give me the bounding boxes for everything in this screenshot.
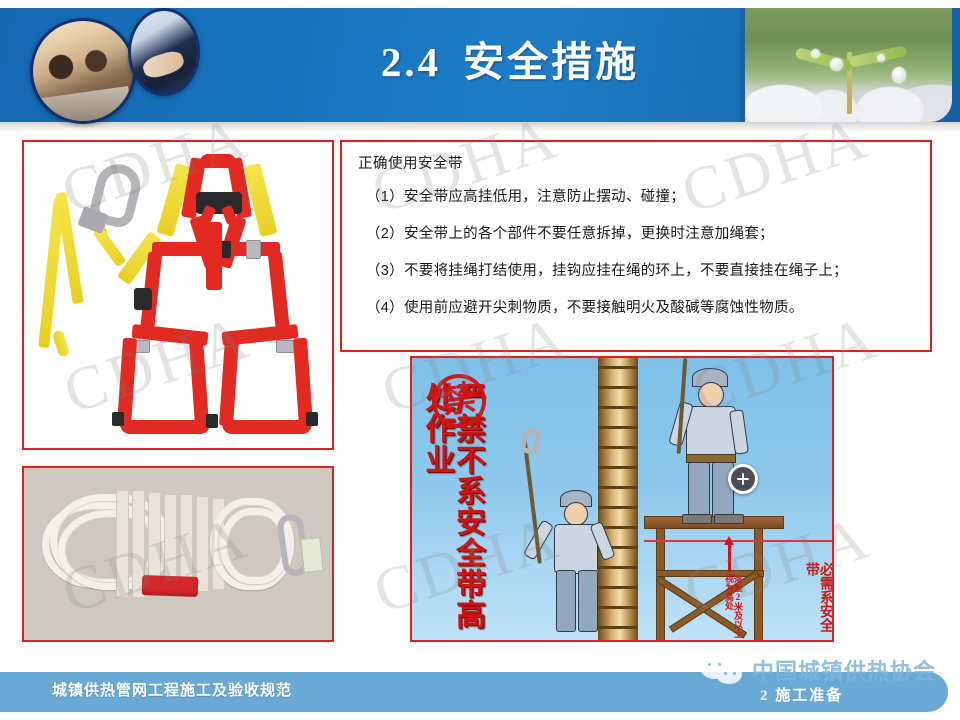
instruction-item-3: （3）不要将挂绳打结使用，挂钩应挂在绳的环上，不要直接挂在绳子上； — [366, 259, 918, 280]
instruction-item-1: （1）安全带应高挂低用，注意防止摆动、碰撞； — [366, 185, 918, 206]
title-number: 2.4 — [381, 42, 441, 83]
safety-poster-image: 落差2米及以上视为高处 必需系安全带 严禁不系安全带高处作业 禁 — [410, 356, 834, 642]
instruction-item-2: （2）安全带上的各个部件不要任意拆掉，更换时注意加绳套； — [366, 222, 918, 243]
height-arrow — [728, 544, 731, 572]
sprout-dew-photo — [740, 8, 952, 122]
scaffold-frame — [650, 518, 778, 642]
instruction-item-4: （4）使用前应避开尖刺物质，不要接触明火及酸碱等腐蚀性物质。 — [366, 296, 918, 317]
ladder — [598, 356, 638, 642]
wechat-watermark: 中国城镇供热协会 — [700, 654, 936, 686]
slide: 2.4 安全措施 — [0, 0, 960, 720]
wechat-account-name: 中国城镇供热协会 — [752, 654, 936, 686]
rope-label-tag — [300, 537, 323, 573]
instruction-textbox: 正确使用安全带 （1）安全带应高挂低用，注意防止摆动、碰撞； （2）安全带上的各… — [340, 140, 932, 352]
height-reference-line — [644, 540, 834, 542]
header-banner-shadow — [0, 122, 960, 132]
rope-red-binding — [142, 575, 199, 597]
footer-document-title: 城镇供热管网工程施工及验收规范 — [52, 679, 292, 700]
wechat-icon — [700, 656, 746, 684]
footer-section-label: 2 施工准备 — [760, 684, 843, 705]
office-meeting-photo — [30, 18, 136, 124]
zoom-in-icon[interactable] — [728, 464, 758, 494]
title-text: 安全措施 — [463, 42, 639, 83]
handshake-photo — [128, 8, 200, 96]
instruction-heading: 正确使用安全带 — [358, 152, 918, 173]
belt-required-note: 必需系安全带 — [804, 562, 832, 640]
safety-harness-photo — [22, 140, 334, 450]
page-title: 2.4 安全措施 — [300, 26, 720, 98]
height-note: 落差2米及以上视为高处 — [724, 574, 742, 640]
safety-rope-photo — [22, 466, 334, 642]
